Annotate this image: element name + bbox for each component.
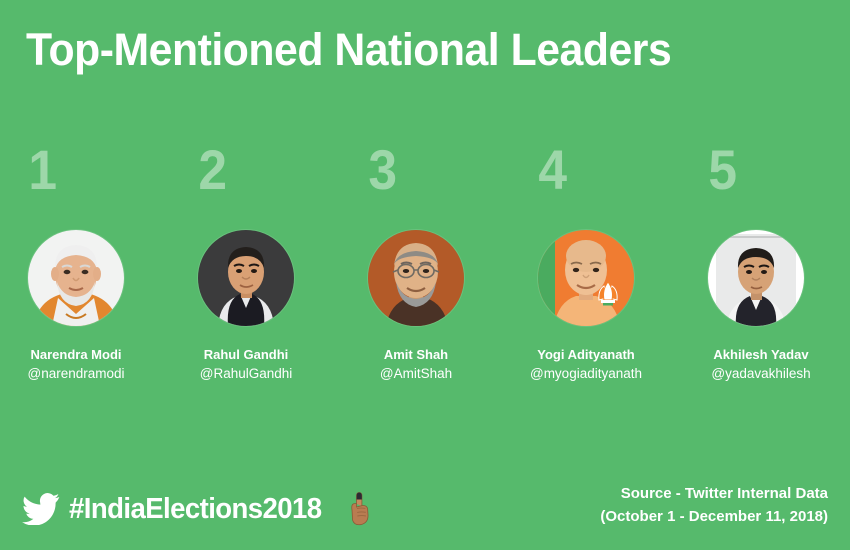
avatar-rahul-gandhi-icon [198,230,294,326]
leader-handle[interactable]: @narendramodi [6,366,146,383]
infographic-canvas: Top-Mentioned National Leaders 1 [0,0,850,550]
leader-name: Narendra Modi [6,347,146,363]
leader-handle[interactable]: @yadavakhilesh [686,366,836,383]
leaders-list: 1 [0,142,850,392]
inked-finger-icon [346,490,372,528]
avatar[interactable] [708,230,804,326]
rank-number: 5 [690,142,846,206]
leader-name: Akhilesh Yadav [686,347,836,363]
avatar[interactable] [538,230,634,326]
leader-card[interactable]: 2 Rahul Gandhi @RahulGan [180,142,350,383]
avatar-akhilesh-yadav-icon [708,230,804,326]
leader-name: Yogi Adityanath [506,347,666,363]
leader-card[interactable]: 1 [10,142,180,383]
leader-card[interactable]: 4 [520,142,690,383]
page-title: Top-Mentioned National Leaders [26,26,671,73]
avatar-amit-shah-icon [368,230,464,326]
leader-handle[interactable]: @AmitShah [346,366,486,383]
hashtag-label[interactable]: #IndiaElections2018 [69,493,322,526]
rank-number: 4 [520,142,676,206]
twitter-bird-icon[interactable] [22,493,60,525]
avatar[interactable] [368,230,464,326]
source-line-1: Source - Twitter Internal Data [600,483,828,506]
rank-number: 1 [10,142,166,206]
footer-hashtag-group: #IndiaElections2018 [22,490,372,528]
leader-card[interactable]: 3 [350,142,520,383]
leader-name: Rahul Gandhi [176,347,316,363]
leader-handle[interactable]: @RahulGandhi [176,366,316,383]
avatar-narendra-modi-icon [28,230,124,326]
leader-card[interactable]: 5 [690,142,850,383]
rank-number: 3 [350,142,506,206]
leader-name: Amit Shah [346,347,486,363]
source-line-2: (October 1 - December 11, 2018) [600,506,828,529]
avatar-yogi-adityanath-icon [538,230,634,326]
leader-handle[interactable]: @myogiadityanath [506,366,666,383]
avatar[interactable] [28,230,124,326]
avatar[interactable] [198,230,294,326]
rank-number: 2 [180,142,336,206]
source-note: Source - Twitter Internal Data (October … [600,483,828,528]
